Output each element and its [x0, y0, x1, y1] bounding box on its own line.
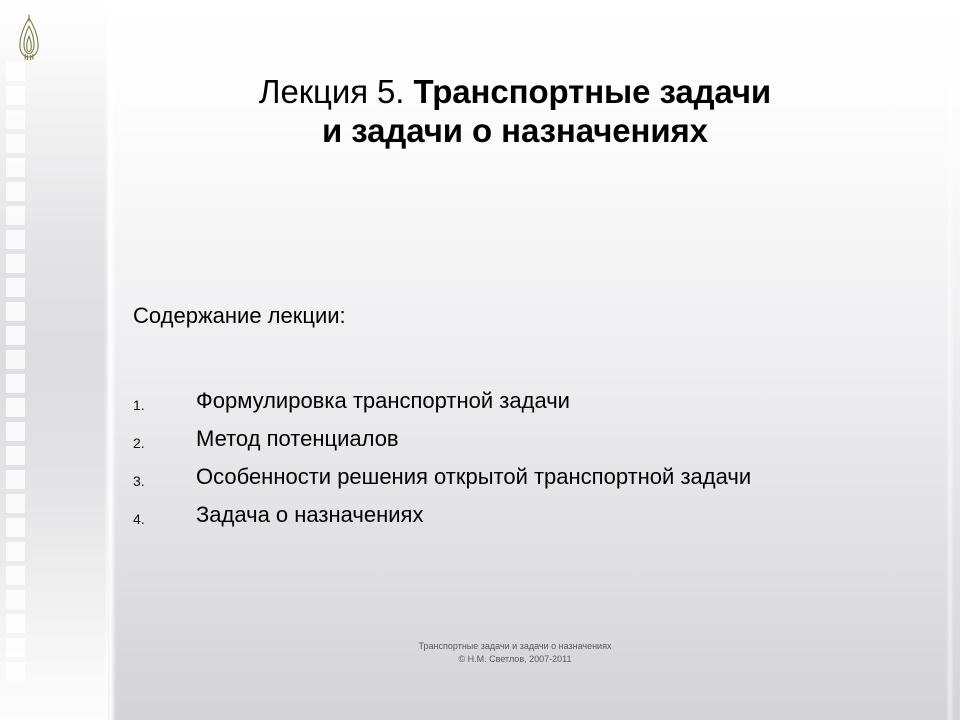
decorative-square	[6, 470, 25, 489]
decorative-square	[6, 206, 25, 225]
decorative-square	[6, 350, 25, 369]
decorative-square	[6, 494, 25, 513]
decorative-square	[6, 230, 25, 249]
decorative-square	[6, 590, 25, 609]
decorative-square	[6, 446, 25, 465]
content-intro-label: Содержание лекции:	[133, 303, 346, 329]
decorative-square	[6, 62, 25, 81]
decorative-square	[6, 182, 25, 201]
flame-ornament-icon	[14, 14, 44, 60]
decorative-square	[6, 614, 25, 633]
decorative-square	[6, 302, 25, 321]
right-highlight-seam	[946, 0, 954, 720]
agenda-item: 1.Формулировка транспортной задачи	[133, 388, 913, 426]
agenda-item-text: Метод потенциалов	[196, 426, 399, 452]
decorative-square	[6, 542, 25, 561]
decorative-square	[6, 638, 25, 657]
slide-footer: Транспортные задачи и задачи о назначени…	[120, 640, 910, 666]
decorative-square	[6, 110, 25, 129]
agenda-item-text: Особенности решения открытой транспортно…	[196, 464, 751, 490]
slide-title-line-2: и задачи о назначениях	[120, 111, 910, 150]
agenda-item-text: Формулировка транспортной задачи	[196, 388, 570, 414]
decorative-square	[6, 374, 25, 393]
decorative-square	[6, 566, 25, 585]
agenda-item-text: Задача о назначениях	[196, 502, 423, 528]
presentation-slide: Лекция 5. Транспортные задачи и задачи о…	[0, 0, 960, 720]
decorative-square	[6, 422, 25, 441]
decorative-square	[6, 398, 25, 417]
decorative-square	[6, 86, 25, 105]
decorative-square	[6, 662, 25, 681]
decorative-square	[6, 134, 25, 153]
agenda-item-number: 3.	[133, 473, 173, 489]
agenda-item: 2.Метод потенциалов	[133, 426, 913, 464]
agenda-list: 1.Формулировка транспортной задачи2.Мето…	[133, 388, 913, 540]
agenda-item: 3.Особенности решения открытой транспорт…	[133, 464, 913, 502]
footer-title: Транспортные задачи и задачи о назначени…	[120, 640, 910, 653]
decorative-square	[6, 278, 25, 297]
agenda-item-number: 4.	[133, 511, 173, 527]
slide-title-main-1: Транспортные задачи	[413, 73, 771, 110]
footer-copyright: © Н.М. Светлов, 2007-2011	[120, 653, 910, 666]
slide-title: Лекция 5. Транспортные задачи и задачи о…	[120, 72, 910, 151]
decorative-square	[6, 518, 25, 537]
decorative-square	[6, 254, 25, 273]
slide-title-lecture-label: Лекция 5.	[259, 73, 404, 110]
agenda-item-number: 2.	[133, 435, 173, 451]
decorative-square	[6, 326, 25, 345]
agenda-item: 4.Задача о назначениях	[133, 502, 913, 540]
decorative-square-column	[6, 62, 25, 694]
decorative-square	[6, 158, 25, 177]
slide-title-line-1: Лекция 5. Транспортные задачи	[120, 72, 910, 111]
agenda-item-number: 1.	[133, 397, 173, 413]
band-highlight-seam	[104, 0, 116, 720]
